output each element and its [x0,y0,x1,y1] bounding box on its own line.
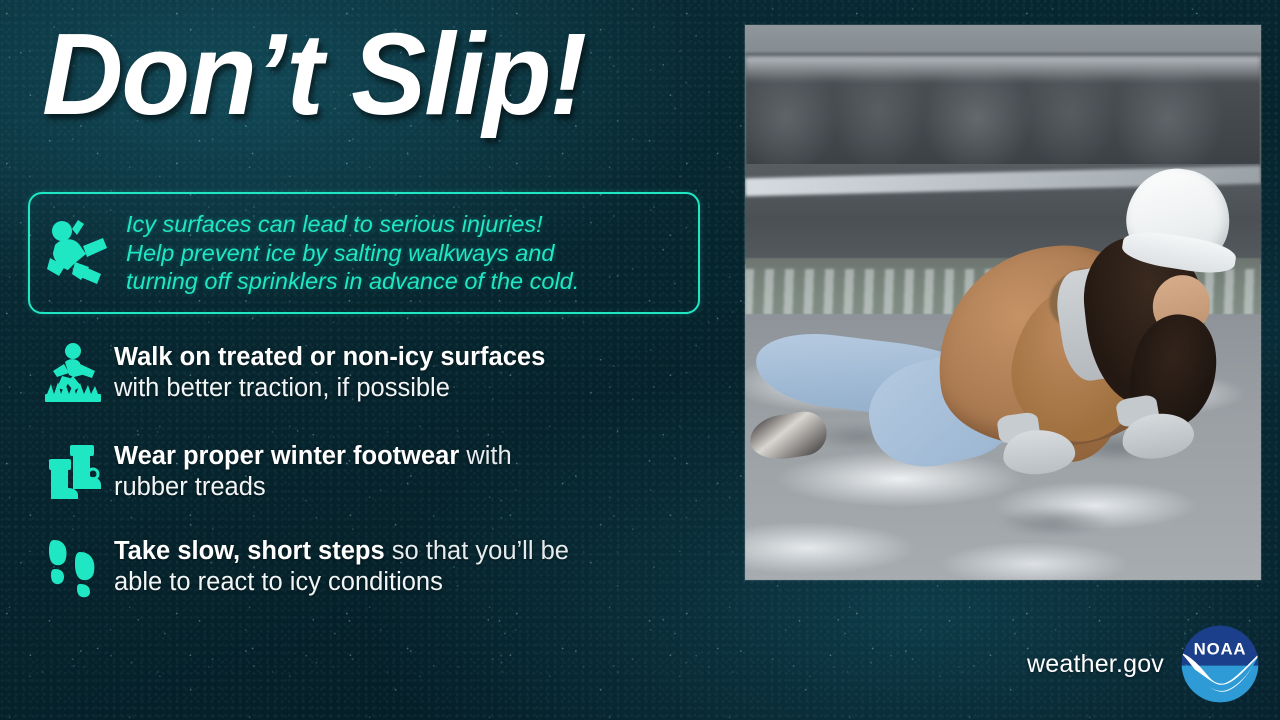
poster-canvas: Don’t Slip! Icy surfaces can lead to ser… [0,0,1280,720]
slip-photo [745,25,1261,580]
tip-line-primary: Walk on treated or non-icy surfaces [114,342,714,373]
tip-line-primary: Wear proper winter footwear with [114,441,714,472]
footprints-icon [34,534,114,598]
tip-bold-text: Take slow, short steps [114,537,385,565]
photo-person [745,25,1261,580]
tip-bold-text: Wear proper winter footwear [114,442,459,470]
person-slipping-icon [30,218,126,288]
tip-item-take-slow-short-steps: Take slow, short steps so that you’ll be… [34,534,714,598]
person-walking-on-grass-icon [34,340,114,408]
tip-text-wear-winter-footwear: Wear proper winter footwear with rubber … [114,439,714,503]
callout-box: Icy surfaces can lead to serious injurie… [28,192,700,314]
tip-line-secondary: able to react to icy conditions [114,567,714,598]
noaa-logo: NOAA [1180,624,1260,704]
page-title: Don’t Slip! [42,16,585,132]
tip-bold-text: Walk on treated or non-icy surfaces [114,343,545,371]
tip-item-wear-winter-footwear: Wear proper winter footwear with rubber … [34,439,714,503]
tip-line-primary: Take slow, short steps so that you’ll be [114,536,714,567]
callout-line-2: Help prevent ice by salting walkways and [126,239,686,268]
noaa-logo-text: NOAA [1194,639,1247,658]
tip-line-secondary: rubber treads [114,472,714,503]
tip-text-take-slow-short-steps: Take slow, short steps so that you’ll be… [114,534,714,598]
tip-text-walk-on-treated-surfaces: Walk on treated or non-icy surfaces with… [114,340,714,404]
tip-line-secondary: with better traction, if possible [114,373,714,404]
tip-item-walk-on-treated-surfaces: Walk on treated or non-icy surfaces with… [34,340,714,408]
tip-light-text: so that you’ll be [385,537,569,565]
callout-line-3: turning off sprinklers in advance of the… [126,267,686,296]
tips-list: Walk on treated or non-icy surfaces with… [34,340,714,629]
photo-sneaker [747,408,830,464]
callout-text: Icy surfaces can lead to serious injurie… [126,210,698,296]
weather-gov-label[interactable]: weather.gov [1027,650,1164,679]
tip-light-text: with [459,442,511,470]
callout-line-1: Icy surfaces can lead to serious injurie… [126,210,686,239]
winter-boots-icon [34,439,114,503]
footer: weather.gov NOAA [1027,624,1260,704]
